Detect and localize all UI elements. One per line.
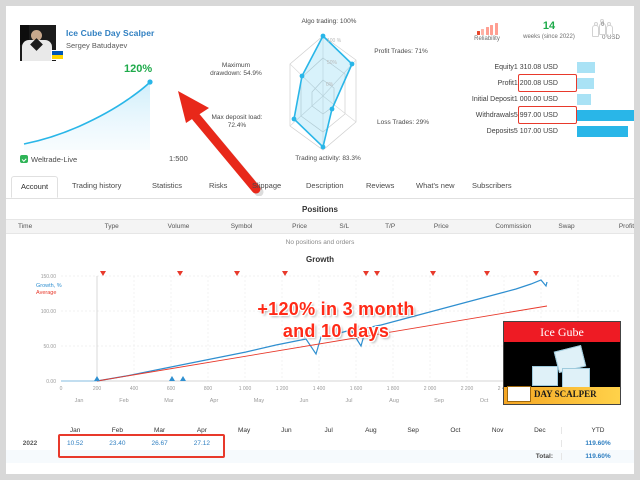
svg-text:2 000: 2 000 (424, 386, 437, 392)
positions-column-header[interactable]: S/L (339, 223, 385, 230)
financial-bar-cell (577, 75, 634, 91)
growth-title: Growth (6, 252, 634, 266)
financial-row: Profit1 200.08 USD (461, 75, 634, 91)
positions-table-header: TimeTypeVolumeSymbolPriceS/LT/PPriceComm… (6, 219, 634, 234)
financial-row: Equity1 310.08 USD (461, 59, 634, 75)
positions-column-header[interactable]: Volume (168, 223, 231, 230)
verified-shield-icon (20, 155, 28, 163)
svg-text:Apr: Apr (210, 398, 219, 404)
account-author[interactable]: Sergey Batudayev (66, 41, 127, 50)
legend-average: Average (36, 290, 62, 297)
ice-cube-icon (562, 368, 590, 389)
svg-text:1 000: 1 000 (239, 386, 252, 392)
positions-column-header[interactable]: Symbol (231, 223, 292, 230)
monthly-month-headers: JanFebMarAprMayJunJulAugSepOctNovDec (54, 427, 561, 434)
svg-text:1 800: 1 800 (387, 386, 400, 392)
radar-label-trading-activity: Trading activity: 83.3% (268, 155, 388, 163)
highlight-box (518, 106, 577, 124)
monthly-month-header: Jan (54, 427, 96, 434)
financial-row: Withdrawals5 997.00 USD (461, 107, 634, 123)
financial-row: Initial Deposit1 000.00 USD (461, 91, 634, 107)
leverage-value: 1:500 (169, 154, 188, 163)
subscribers-icon: 0 (587, 20, 634, 34)
financial-label: Equity (461, 59, 514, 75)
promo-line-2: and 10 days (191, 320, 481, 342)
tab-statistics[interactable]: Statistics (152, 176, 182, 196)
financial-value: 5 107.00 USD (514, 123, 577, 139)
svg-text:Oct: Oct (480, 398, 489, 404)
promo-annotation: +120% in 3 month and 10 days (191, 298, 481, 342)
radar-label-algo-trading: Algo trading: 100% (274, 18, 384, 26)
reliability-bars-icon (461, 22, 513, 35)
financial-label: Profit (461, 75, 514, 91)
financial-value: 1 200.08 USD (514, 75, 577, 91)
weeks-value: 14 (513, 20, 585, 33)
monthly-month-header: Feb (96, 427, 138, 434)
monthly-value (477, 440, 519, 447)
country-flag-icon (51, 50, 64, 60)
monthly-month-header: Jun (265, 427, 307, 434)
financial-bar (577, 94, 591, 105)
product-logo-title: Ice Gube (504, 322, 620, 342)
svg-text:800: 800 (204, 386, 213, 392)
reliability-label: Reliability (461, 36, 513, 42)
total-value: 119.60% (561, 453, 634, 460)
mini-growth-chart: 120% (20, 66, 170, 156)
broker-name: Weltrade-Live (31, 155, 77, 164)
monthly-month-header: Sep (392, 427, 434, 434)
account-page: Ice Cube Day Scalper Sergey Batudayev 12… (6, 6, 634, 474)
financial-label: Initial Deposit (461, 91, 514, 107)
financial-bar-cell (577, 123, 634, 139)
promo-line-1: +120% in 3 month (191, 298, 481, 320)
account-title[interactable]: Ice Cube Day Scalper (66, 28, 154, 38)
financial-bar-cell (577, 107, 634, 123)
monthly-month-header: Apr (181, 427, 223, 434)
monthly-month-header: May (223, 427, 265, 434)
monthly-value (350, 440, 392, 447)
monthly-month-header: Oct (434, 427, 476, 434)
svg-text:Jun: Jun (300, 398, 309, 404)
positions-column-header[interactable]: Price (434, 223, 495, 230)
account-header: Ice Cube Day Scalper Sergey Batudayev 12… (6, 6, 634, 174)
tab-trading-history[interactable]: Trading history (72, 176, 121, 196)
svg-text:50%: 50% (327, 60, 338, 66)
financial-row: Deposits5 107.00 USD (461, 123, 634, 139)
tab-subscribers[interactable]: Subscribers (472, 176, 512, 196)
svg-text:Sep: Sep (434, 398, 444, 404)
monthly-year: 2022 (6, 440, 54, 447)
svg-text:600: 600 (167, 386, 176, 392)
monthly-values-row: 2022 10.5223.4026.6727.12 119.60% (6, 437, 634, 450)
radar-label-loss-trades: Loss Trades: 29% (364, 119, 442, 127)
positions-column-header[interactable]: Price (292, 223, 339, 230)
monthly-value (519, 440, 561, 447)
svg-text:100 %: 100 % (327, 38, 342, 44)
weeks-label: weeks (since 2022) (513, 34, 585, 40)
tab-description[interactable]: Description (306, 176, 344, 196)
highlight-box (518, 74, 577, 92)
kpi-row: Reliability 14 weeks (since 2022) 0 (461, 16, 634, 56)
svg-text:0.00: 0.00 (46, 379, 56, 385)
financial-label: Deposits (461, 123, 514, 139)
weeks-kpi: 14 weeks (since 2022) (513, 20, 585, 40)
monthly-value (308, 440, 350, 447)
svg-text:200: 200 (93, 386, 102, 392)
monthly-month-header: Mar (139, 427, 181, 434)
financial-bar (577, 126, 628, 137)
svg-text:0%: 0% (326, 82, 334, 88)
legend-growth: Growth, % (36, 283, 62, 290)
positions-empty-message: No positions and orders (6, 234, 634, 252)
positions-column-header[interactable]: Swap (558, 223, 602, 230)
monthly-month-header: Dec (519, 427, 561, 434)
svg-text:50.00: 50.00 (43, 344, 56, 350)
financial-value: 1 000.00 USD (514, 91, 577, 107)
chart-legend: Growth, % Average (36, 283, 62, 297)
monthly-month-header: Aug (350, 427, 392, 434)
positions-column-header[interactable]: Commission (495, 223, 558, 230)
ytd-value: 119.60% (561, 440, 634, 447)
growth-badge: 120% (124, 63, 152, 75)
positions-column-header[interactable]: Type (105, 223, 168, 230)
svg-text:Feb: Feb (119, 398, 128, 404)
tab-what-s-new[interactable]: What's new (416, 176, 455, 196)
subscribers-kpi: 0 0 USD (587, 20, 634, 41)
positions-column-header[interactable]: Profit (602, 223, 634, 230)
svg-text:May: May (254, 398, 265, 404)
svg-text:2 200: 2 200 (461, 386, 474, 392)
tab-slippage[interactable]: Slippage (252, 176, 281, 196)
monthly-value (392, 440, 434, 447)
ice-cube-icon (532, 366, 558, 386)
positions-title: Positions (6, 199, 634, 219)
financial-value: 1 310.08 USD (514, 59, 577, 75)
svg-text:1 400: 1 400 (313, 386, 326, 392)
svg-text:1 200: 1 200 (276, 386, 289, 392)
financial-value: 5 997.00 USD (514, 107, 577, 123)
financial-label: Withdrawals (461, 107, 514, 123)
monthly-returns-table: JanFebMarAprMayJunJulAugSepOctNovDec YTD… (6, 424, 634, 463)
svg-text:400: 400 (130, 386, 139, 392)
tab-bar[interactable]: AccountTrading historyStatisticsRisksSli… (6, 176, 634, 199)
financial-bar (577, 62, 595, 73)
financial-bar-cell (577, 91, 634, 107)
financial-bar-cell (577, 59, 634, 75)
financial-bar (577, 110, 634, 121)
radar-label-max-deposit-load: Max deposit load: 72.4% (208, 114, 266, 130)
financials-table: Equity1 310.08 USDProfit1 200.08 USDInit… (461, 59, 634, 139)
product-logo: Ice Gube DAY SCALPER (503, 321, 621, 405)
monthly-month-header: Nov (477, 427, 519, 434)
ytd-header: YTD (561, 427, 634, 434)
account-stats-panel: Reliability 14 weeks (since 2022) 0 (461, 16, 634, 176)
svg-text:Jul: Jul (345, 398, 352, 404)
monthly-value (223, 440, 265, 447)
subscribers-count: 0 (601, 22, 604, 28)
radar-chart: 100 % 50% 0% Algo trading: 100% Profit T… (206, 14, 441, 174)
radar-label-max-drawdown: Maximum drawdown: 54.9% (206, 62, 266, 78)
financials-body: Equity1 310.08 USDProfit1 200.08 USDInit… (461, 59, 634, 139)
svg-text:0: 0 (60, 386, 63, 392)
tab-risks[interactable]: Risks (209, 176, 227, 196)
financial-bar (577, 78, 594, 89)
monthly-highlight-box (58, 434, 225, 458)
tab-reviews[interactable]: Reviews (366, 176, 394, 196)
positions-column-header[interactable]: T/P (385, 223, 434, 230)
svg-text:Aug: Aug (389, 398, 399, 404)
svg-text:100.00: 100.00 (41, 309, 57, 315)
svg-text:150.00: 150.00 (41, 274, 57, 280)
monthly-value (434, 440, 476, 447)
reliability-kpi: Reliability (461, 22, 513, 42)
positions-column-header[interactable]: Time (6, 223, 105, 230)
chart-badge-icon (507, 386, 531, 402)
svg-text:Jan: Jan (75, 398, 84, 404)
broker-label: Weltrade-Live (20, 154, 77, 164)
product-logo-footer: DAY SCALPER (504, 387, 620, 404)
monthly-month-header: Jul (308, 427, 350, 434)
tab-account[interactable]: Account (11, 176, 58, 198)
radar-label-profit-trades: Profit Trades: 71% (364, 48, 438, 56)
svg-text:1 600: 1 600 (350, 386, 363, 392)
product-logo-subtitle: DAY SCALPER (534, 389, 597, 399)
svg-text:Mar: Mar (164, 398, 174, 404)
monthly-value (265, 440, 307, 447)
